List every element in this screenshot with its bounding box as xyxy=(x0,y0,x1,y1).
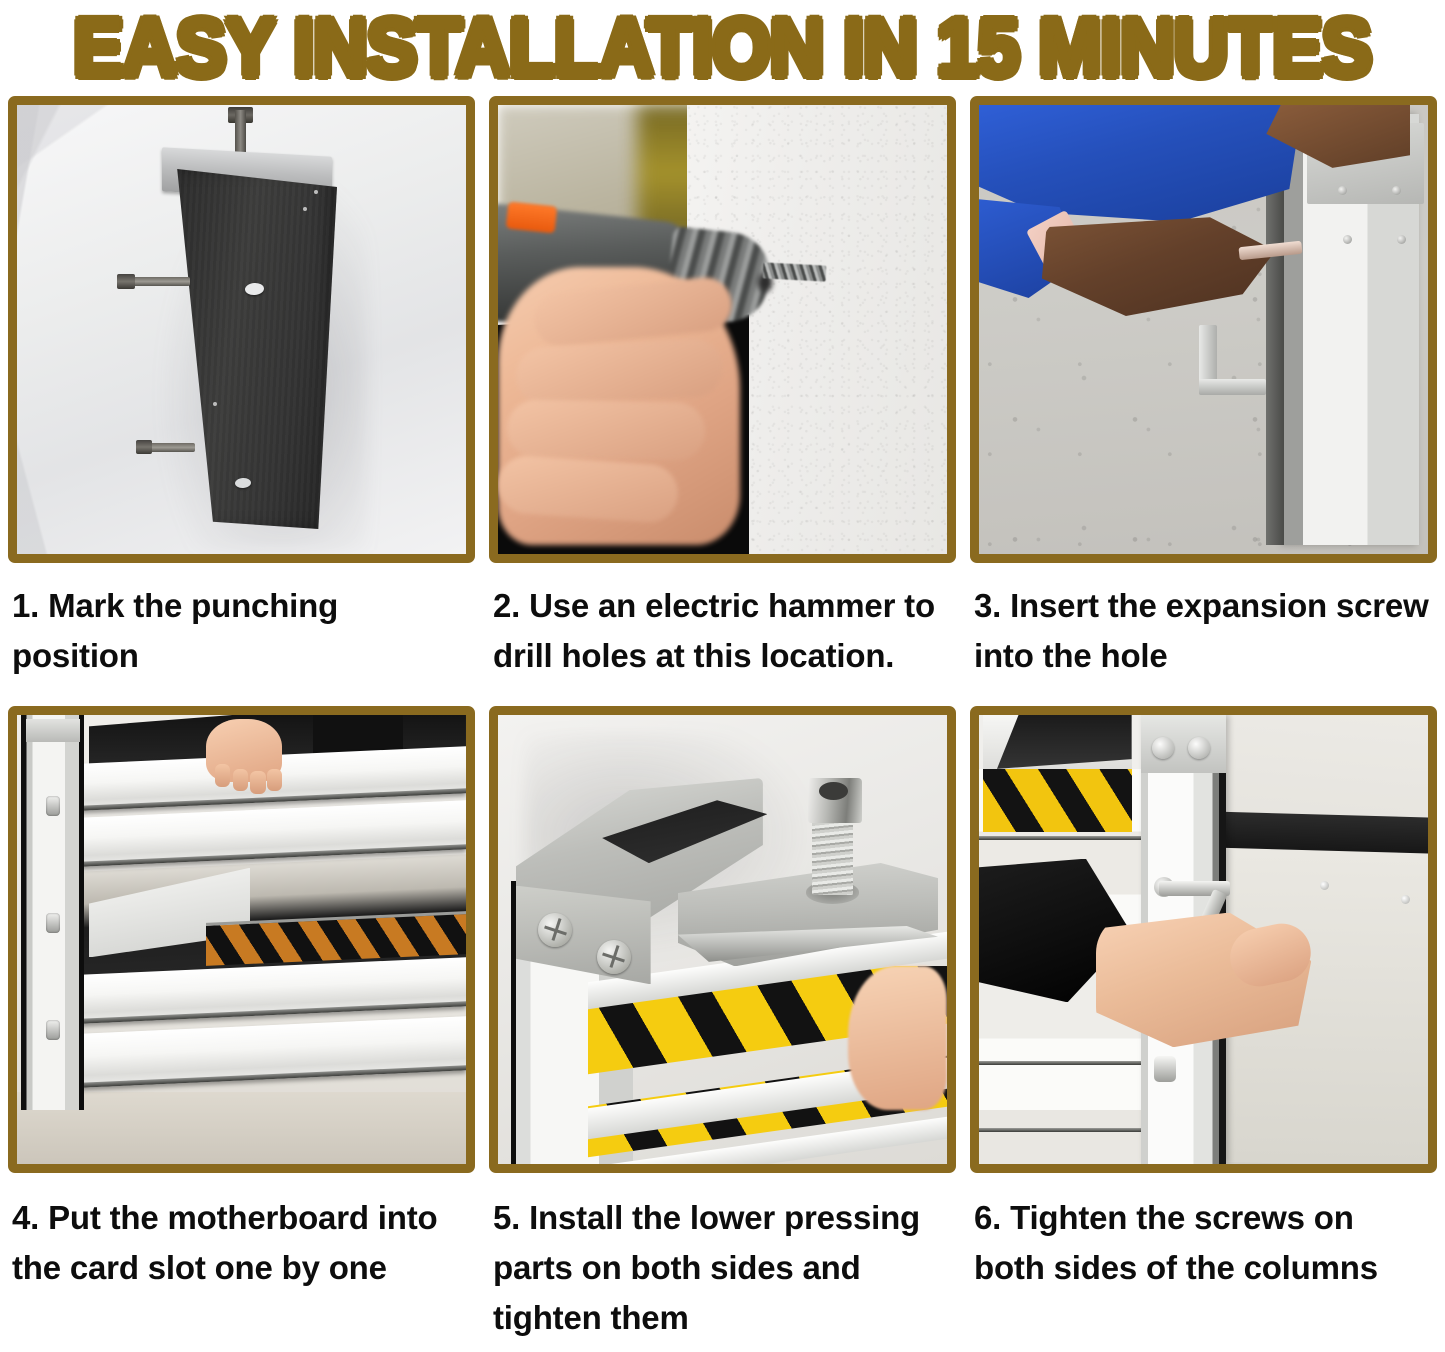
steps-grid: 1. Mark the punching position xyxy=(0,96,1445,1343)
column-slot-screw-3 xyxy=(46,1020,60,1040)
step-image-frame-5 xyxy=(489,706,956,1173)
step-image-frame-1 xyxy=(8,96,475,563)
step-photo-2 xyxy=(498,105,947,554)
step-card-1: 1. Mark the punching position xyxy=(8,96,475,681)
bolt-upper-head xyxy=(117,274,135,289)
column-screw-4 xyxy=(1397,235,1406,244)
column-screw-low xyxy=(1154,1056,1176,1082)
cloth-speck-3 xyxy=(213,402,217,406)
floor-strip xyxy=(17,1092,466,1164)
cloth-speck-1 xyxy=(314,190,318,194)
drill-trigger-orange xyxy=(506,201,558,233)
hand-finger-3 xyxy=(250,771,265,793)
board-seam-4 xyxy=(979,1128,1145,1132)
step-photo-1 xyxy=(17,105,466,554)
step-image-frame-3 xyxy=(970,96,1437,563)
step-card-4: 4. Put the motherboard into the card slo… xyxy=(8,706,475,1343)
column-screw-3 xyxy=(1343,235,1352,244)
cloth-speck-2 xyxy=(303,207,307,211)
phillips-screw-1 xyxy=(538,913,572,947)
finger-behind-bracket xyxy=(848,966,947,1110)
hand-finger-4 xyxy=(267,769,282,791)
column-slot-screw-1 xyxy=(46,796,60,816)
bolt-threaded-shaft xyxy=(812,818,852,894)
step-image-frame-2 xyxy=(489,96,956,563)
steps-row-top: 1. Mark the punching position xyxy=(8,96,1437,681)
step-card-2: 2. Use an electric hammer to drill holes… xyxy=(489,96,956,681)
phillips-screw-2 xyxy=(597,940,631,974)
floor-fixing-2 xyxy=(1401,895,1410,904)
allen-key-horizontal xyxy=(1199,379,1266,395)
top-stud xyxy=(235,110,246,152)
column-screw-1 xyxy=(1338,186,1347,195)
step-card-5: 5. Install the lower pressing parts on b… xyxy=(489,706,956,1343)
step-caption-6: 6. Tighten the screws on both sides of t… xyxy=(970,1193,1437,1293)
finger-4 xyxy=(498,454,679,525)
step-caption-3: 3. Insert the expansion screw into the h… xyxy=(970,581,1437,681)
step-photo-6 xyxy=(979,715,1428,1164)
finger-3 xyxy=(506,400,705,462)
title-bar: EASY INSTALLATION IN 15 MINUTES xyxy=(0,0,1445,96)
finger-2 xyxy=(515,338,724,407)
step-image-frame-4 xyxy=(8,706,475,1173)
step-caption-4: 4. Put the motherboard into the card slo… xyxy=(8,1193,475,1293)
steps-row-bottom: 4. Put the motherboard into the card slo… xyxy=(8,706,1437,1343)
bolt-lower-head xyxy=(136,440,152,454)
hand-finger-1 xyxy=(215,764,230,786)
hazard-stripe-band xyxy=(983,769,1131,832)
step-caption-5: 5. Install the lower pressing parts on b… xyxy=(489,1193,956,1343)
row-spacer xyxy=(8,681,1437,706)
page-title: EASY INSTALLATION IN 15 MINUTES xyxy=(74,5,1372,91)
step-photo-5 xyxy=(498,715,947,1164)
step-card-3: 3. Insert the expansion screw into the h… xyxy=(970,96,1437,681)
column-top-bracket xyxy=(26,719,80,741)
column-slot-screw-2 xyxy=(46,913,60,933)
board-seam-3 xyxy=(979,1061,1145,1065)
column-screw-2 xyxy=(1392,186,1401,195)
step-photo-3 xyxy=(979,105,1428,554)
step-image-frame-6 xyxy=(970,706,1437,1173)
step-card-6: 6. Tighten the screws on both sides of t… xyxy=(970,706,1437,1343)
step-caption-1: 1. Mark the punching position xyxy=(8,581,475,681)
step-caption-2: 2. Use an electric hammer to drill holes… xyxy=(489,581,956,681)
hand-finger-2 xyxy=(233,769,248,791)
step-photo-4 xyxy=(17,715,466,1164)
board-seam-1 xyxy=(979,836,1145,840)
